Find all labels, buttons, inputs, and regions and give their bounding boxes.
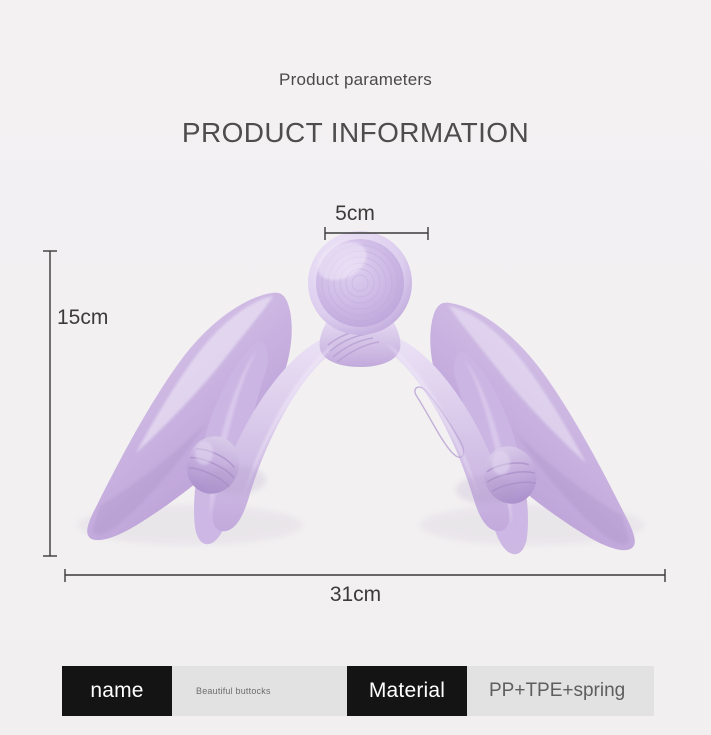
spec-value-name: Beautiful buttocks [172,666,347,716]
page-subtitle: Product parameters [0,70,711,90]
product-illustration [40,225,680,570]
circular-pad [308,231,412,335]
left-contact-shadow [206,466,266,494]
height-dimension-label: 15cm [57,306,108,330]
left-spring-gloss [195,441,213,465]
spec-key-name: name [62,666,172,716]
product-information-page: Product parameters PRODUCT INFORMATION [0,0,711,735]
right-contact-shadow [456,476,516,504]
spec-value-material: PP+TPE+spring [467,666,654,716]
product-image [40,225,680,570]
spec-key-material: Material [347,666,467,716]
right-spring-gloss [492,451,510,475]
length-dimension-label: 31cm [0,583,711,607]
page-title: PRODUCT INFORMATION [0,117,711,149]
width-dimension-label: 5cm [0,202,711,226]
spec-table: name Beautiful buttocks Material PP+TPE+… [62,666,654,716]
